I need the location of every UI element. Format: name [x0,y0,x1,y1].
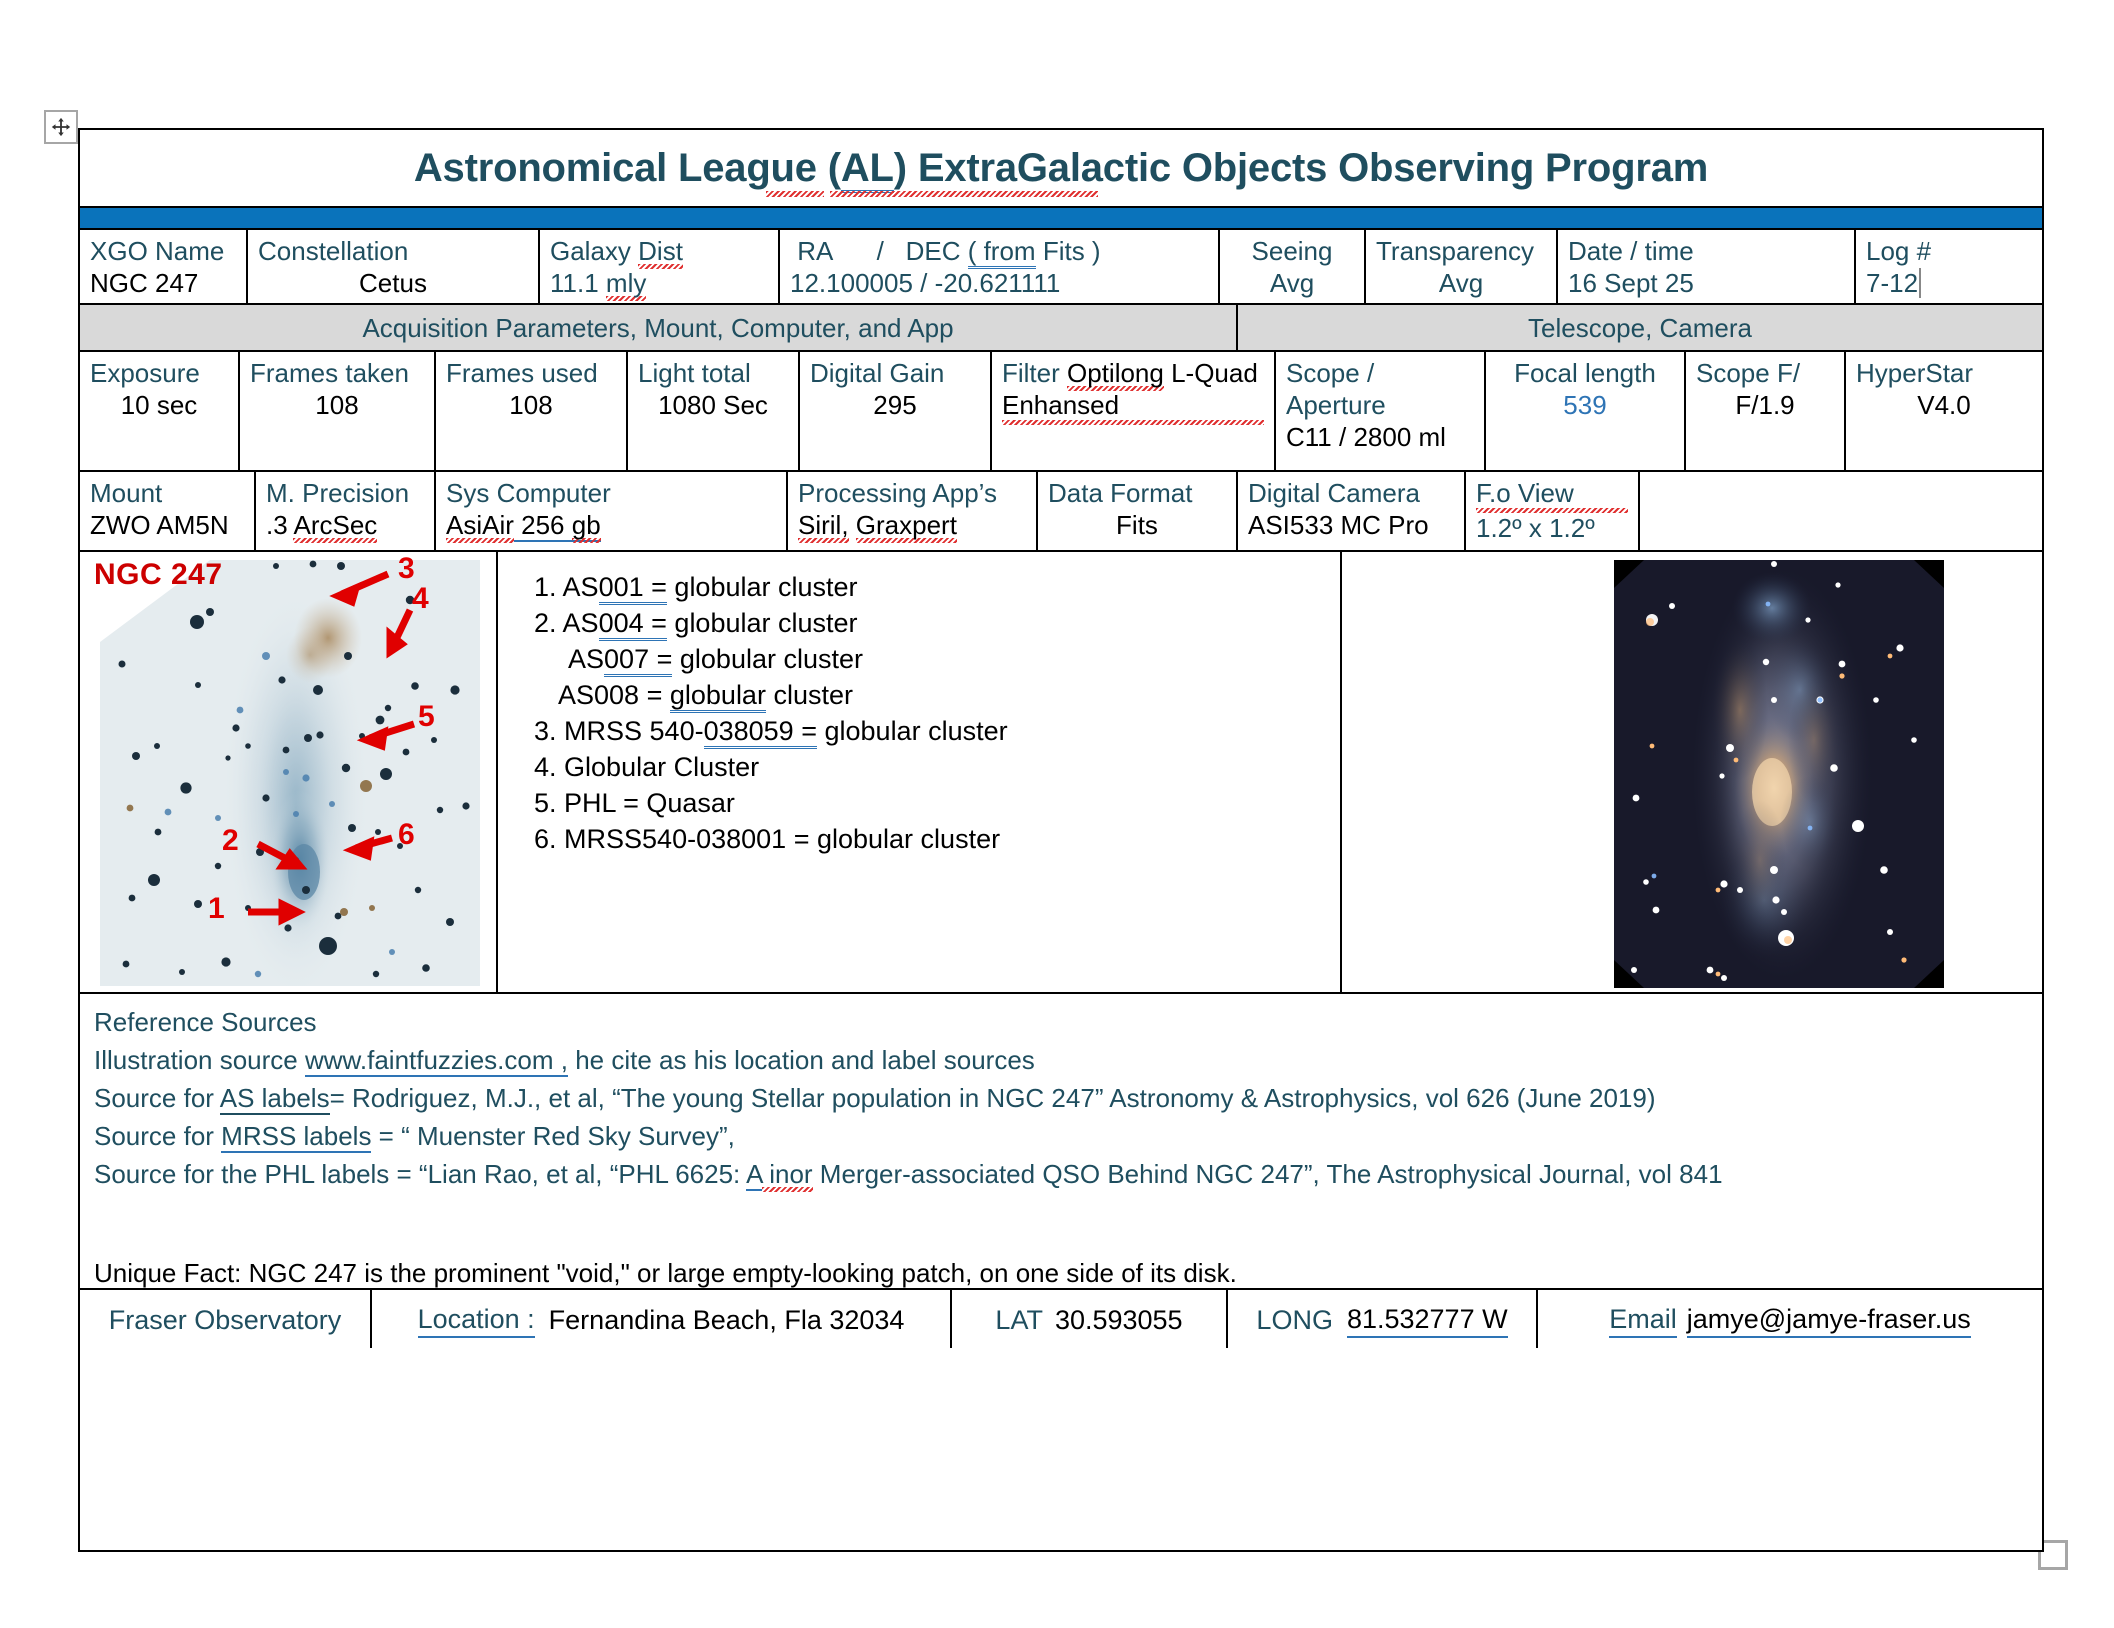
scope-f-value: F/1.9 [1696,390,1834,422]
constellation-label: Constellation [258,236,528,268]
digital-gain-label: Digital Gain [810,358,980,390]
hyperstar-value: V4.0 [1856,390,2032,422]
data-format-label: Data Format [1048,478,1226,510]
fov-label: F.o View [1476,478,1628,513]
mrss-prefix: Source for [94,1121,221,1151]
sys-computer-value: AsiAir 256 gb [446,510,776,542]
frames-taken-value: 108 [250,390,424,422]
title-suffix: ) ExtraGalactic Objects Observing Progra… [894,146,1708,190]
filter-label-text: Filter [1002,358,1060,388]
annotation-4: 4 [412,582,429,616]
log-number-text: 7-12 [1866,268,1918,298]
cell-digital-gain: Digital Gain 295 [800,352,992,470]
mount-value: ZWO AM5N [90,510,244,542]
faintfuzzies-link[interactable]: www.faintfuzzies.com , [305,1045,568,1077]
astrophoto-image [1614,560,1944,988]
processing-apps-value: Siril, Graxpert [798,510,1026,542]
object-id: AS001 [563,572,652,605]
object-id: AS004 [563,608,652,641]
long-label: LONG [1256,1304,1333,1337]
xgo-name-label: XGO Name [90,236,236,268]
precision-unit: ArcSec [293,510,377,543]
cell-frames-used: Frames used 108 [436,352,628,470]
data-format-value: Fits [1048,510,1226,542]
hyperstar-label: HyperStar [1856,358,2032,390]
spell-squiggle [830,191,1098,197]
object-id: Globular Cluster [564,752,759,782]
email-label: Email [1609,1303,1677,1338]
object-equals: = [651,608,667,641]
cell-data-format: Data Format Fits [1038,472,1238,550]
object-description: globular cluster [825,716,1008,746]
move-cross-icon [50,116,72,138]
long-value: 81.532777 W [1347,1303,1508,1338]
object-number: 5. [534,788,564,818]
phl-prefix: Source for the PHL labels = “Lian Rao, e… [94,1159,746,1189]
object-equals: = [647,680,663,710]
title-al-underlined: AL [841,146,894,193]
exposure-label: Exposure [90,358,228,390]
cell-object-legend: 1. AS001 = globular cluster2. AS004 = gl… [498,552,1342,992]
object-id: PHL [564,788,623,818]
object-legend-item: 1. AS001 = globular cluster [534,570,1340,606]
observation-form: Astronomical League (AL) ExtraGalactic O… [78,128,2044,1552]
cell-processing-apps: Processing App’s Siril, Graxpert [788,472,1038,550]
object-description: globular cluster [817,824,1000,854]
reference-as-labels: Source for AS labels= Rodriguez, M.J., e… [94,1082,2028,1116]
annotation-arrows [80,552,498,994]
unique-fact: Unique Fact: NGC 247 is the prominent "v… [94,1257,2028,1291]
as-suffix: = Rodriguez, M.J., et al, “The young Ste… [330,1083,1656,1113]
object-description: Quasar [646,788,735,818]
cell-finder-chart: NGC 247 [80,552,498,992]
annotation-5: 5 [418,700,435,734]
cell-longitude: LONG 81.532777 W [1228,1290,1538,1348]
annotation-6: 6 [398,818,415,852]
cell-log-number: Log # 7-12 [1856,230,2042,303]
phl-a-underlined: A [746,1159,762,1191]
frames-used-value: 108 [446,390,616,422]
images-and-list-row: NGC 247 [80,550,2042,992]
reference-illustration: Illustration source www.faintfuzzies.com… [94,1044,2028,1078]
scope-f-label: Scope F/ [1696,358,1834,390]
light-total-value: 1080 Sec [638,390,788,422]
filter-brand: Optilong [1067,358,1164,391]
digital-camera-label: Digital Camera [1248,478,1454,510]
precision-label: M. Precision [266,478,424,510]
object-equals: = [657,644,673,677]
cell-exposure: Exposure 10 sec [80,352,240,470]
focal-length-label: Focal length [1496,358,1674,390]
galaxy-dist-label: Galaxy Dist [550,236,768,268]
cell-date-time: Date / time 16 Sept 25 [1558,230,1856,303]
telescope-section-header: Telescope, Camera [1238,305,2042,350]
sys-computer-storage: 256 gb [514,510,601,542]
seeing-value: Avg [1230,268,1354,300]
reference-phl-labels: Source for the PHL labels = “Lian Rao, e… [94,1158,2028,1192]
acquisition-section-header: Acquisition Parameters, Mount, Computer,… [80,305,1238,350]
lat-label: LAT [995,1304,1043,1337]
object-legend-item: 2. AS004 = globular cluster [534,606,1340,642]
table-move-handle[interactable] [44,110,78,144]
cell-transparency: Transparency Avg [1366,230,1558,303]
object-description: globular [670,680,766,713]
annotation-1: 1 [208,892,225,926]
section-header-row: Acquisition Parameters, Mount, Computer,… [80,303,2042,350]
cell-observatory: Fraser Observatory [80,1290,372,1348]
sys-computer-name: AsiAir [446,510,514,543]
document-page: Astronomical League (AL) ExtraGalactic O… [0,0,2114,1628]
object-id: MRSS540-038001 [564,824,794,854]
object-legend-item: 5. PHL = Quasar [534,786,1340,822]
xgo-name-value: NGC 247 [90,268,236,300]
object-equals: = [794,824,810,854]
cell-coordinates: RA / DEC ( from Fits ) 12.100005 / -20.6… [780,230,1220,303]
title-row: Astronomical League (AL) ExtraGalactic O… [80,130,2042,206]
reference-mrss-labels: Source for MRSS labels = “ Muenster Red … [94,1120,2028,1154]
object-legend-item: AS008 = globular cluster [534,678,1340,714]
annotation-2: 2 [222,824,239,858]
lat-value: 30.593055 [1055,1304,1183,1337]
annotation-3: 3 [398,552,415,586]
frames-used-label: Frames used [446,358,616,390]
cell-field-of-view: F.o View 1.2º x 1.2º [1466,472,1640,550]
object-equals: = [801,716,817,749]
object-id: AS008 [558,680,647,710]
illustration-prefix: Illustration source [94,1045,305,1075]
galaxy-dist-unit: mly [606,268,646,301]
light-total-label: Light total [638,358,788,390]
filter-value-line2: Enhansed [1002,390,1264,425]
object-info-row: XGO Name NGC 247 Constellation Cetus Gal… [80,228,2042,303]
precision-value: .3 ArcSec [266,510,424,542]
sys-computer-unit: gb [572,510,601,543]
cell-light-total: Light total 1080 Sec [628,352,800,470]
object-number: 2. [534,608,563,638]
object-id: AS007 [568,644,657,677]
mount-row: Mount ZWO AM5N M. Precision .3 ArcSec Sy… [80,470,2042,550]
digital-gain-value: 295 [810,390,980,422]
location-label: Location : [418,1303,535,1338]
location-value: Fernandina Beach, Fla 32034 [549,1304,905,1337]
object-legend-item: 3. MRSS 540-038059 = globular cluster [534,714,1340,750]
cell-email: Email jamye@jamye-fraser.us [1538,1290,2042,1348]
as-labels-link[interactable]: AS labels [220,1083,330,1115]
cell-scope-aperture: Scope / Aperture C11 / 2800 ml [1276,352,1486,470]
cell-xgo-name: XGO Name NGC 247 [80,230,248,303]
cell-scope-f: Scope F/ F/1.9 [1686,352,1846,470]
acquisition-row: Exposure 10 sec Frames taken 108 Frames … [80,350,2042,470]
date-time-value: 16 Sept 25 [1568,268,1844,300]
object-number: 4. [534,752,564,782]
object-legend-item: 6. MRSS540-038001 = globular cluster [534,822,1340,858]
cell-frames-taken: Frames taken 108 [240,352,436,470]
scope-aperture-value: C11 / 2800 ml [1286,422,1474,454]
cell-digital-camera: Digital Camera ASI533 MC Pro [1238,472,1466,550]
reference-heading: Reference Sources [94,1006,2028,1040]
scope-label-line2: Aperture [1286,390,1474,422]
seeing-label: Seeing [1230,236,1354,268]
fov-value: 1.2º x 1.2º [1476,513,1628,545]
cell-location: Location : Fernandina Beach, Fla 32034 [372,1290,952,1348]
log-number-label: Log # [1866,236,2032,268]
cell-galaxy-dist: Galaxy Dist 11.1 mly [540,230,780,303]
digital-camera-value: ASI533 MC Pro [1248,510,1454,542]
object-id: MRSS 540-038059 [564,716,801,749]
constellation-value: Cetus [258,268,528,300]
spell-squiggle [766,191,824,197]
transparency-value: Avg [1376,268,1546,300]
as-prefix: Source for [94,1083,220,1113]
illustration-suffix: he cite as his location and label source… [568,1045,1035,1075]
blue-banner [80,206,2042,228]
focal-length-value: 539 [1496,390,1674,422]
page-title: Astronomical League (AL) ExtraGalactic O… [414,146,1708,191]
cell-sys-computer: Sys Computer AsiAir 256 gb [436,472,788,550]
date-time-label: Date / time [1568,236,1844,268]
observatory-name: Fraser Observatory [109,1304,342,1337]
object-number: 1. [534,572,563,602]
object-number: 6. [534,824,564,854]
cell-focal-length: Focal length 539 [1486,352,1686,470]
galaxy-dist-value: 11.1 mly [550,268,768,300]
cell-astrophoto [1342,552,2042,992]
processing-apps-label: Processing App’s [798,478,1026,510]
cell-mount: Mount ZWO AM5N [80,472,256,550]
object-description: globular cluster [674,608,857,638]
filter-label: Filter Optilong L-Quad [1002,358,1264,390]
frames-taken-label: Frames taken [250,358,424,390]
sys-computer-label: Sys Computer [446,478,776,510]
reference-sources-block: Reference Sources Illustration source ww… [80,992,2042,1288]
exposure-value: 10 sec [90,390,228,422]
object-equals: = [651,572,667,605]
title-prefix: Astronomical League ( [414,146,841,190]
galaxy-dist-label-dist: Dist [638,236,683,269]
object-number: 3. [534,716,564,746]
app-graxpert: Graxpert [856,510,957,543]
object-legend-list: 1. AS001 = globular cluster2. AS004 = gl… [534,570,1340,857]
phl-suffix: Merger-associated QSO Behind NGC 247”, T… [813,1159,1723,1189]
coordinates-value: 12.100005 / -20.621111 [790,268,1208,300]
log-number-value: 7-12 [1866,268,2032,300]
coordinates-from-fits: ( from [968,236,1036,269]
cell-constellation: Constellation Cetus [248,230,540,303]
scope-label-line1: Scope / [1286,358,1474,390]
transparency-label: Transparency [1376,236,1546,268]
object-legend-item: AS007 = globular cluster [534,642,1340,678]
object-legend-item: 4. Globular Cluster [534,750,1340,786]
coordinates-label: RA / DEC ( from Fits ) [790,236,1208,268]
email-value[interactable]: jamye@jamye-fraser.us [1687,1303,1971,1338]
cell-precision: M. Precision .3 ArcSec [256,472,436,550]
object-description: globular cluster [674,572,857,602]
object-description: globular cluster [680,644,863,674]
cell-seeing: Seeing Avg [1220,230,1366,303]
astrophoto-svg [1614,560,1944,988]
cell-filter: Filter Optilong L-Quad Enhansed [992,352,1276,470]
filter-type: L-Quad [1171,358,1258,388]
cell-latitude: LAT 30.593055 [952,1290,1228,1348]
phl-inor: inor [762,1159,813,1192]
mount-label: Mount [90,478,244,510]
mrss-labels-link[interactable]: MRSS labels [221,1121,371,1153]
mrss-suffix: = “ Muenster Red Sky Survey”, [371,1121,734,1151]
object-equals: = [623,788,639,818]
app-siril: Siril, [798,510,849,543]
footer-row: Fraser Observatory Location : Fernandina… [80,1288,2042,1348]
cell-mount-blank [1640,472,2042,550]
cell-hyperstar: HyperStar V4.0 [1846,352,2042,470]
